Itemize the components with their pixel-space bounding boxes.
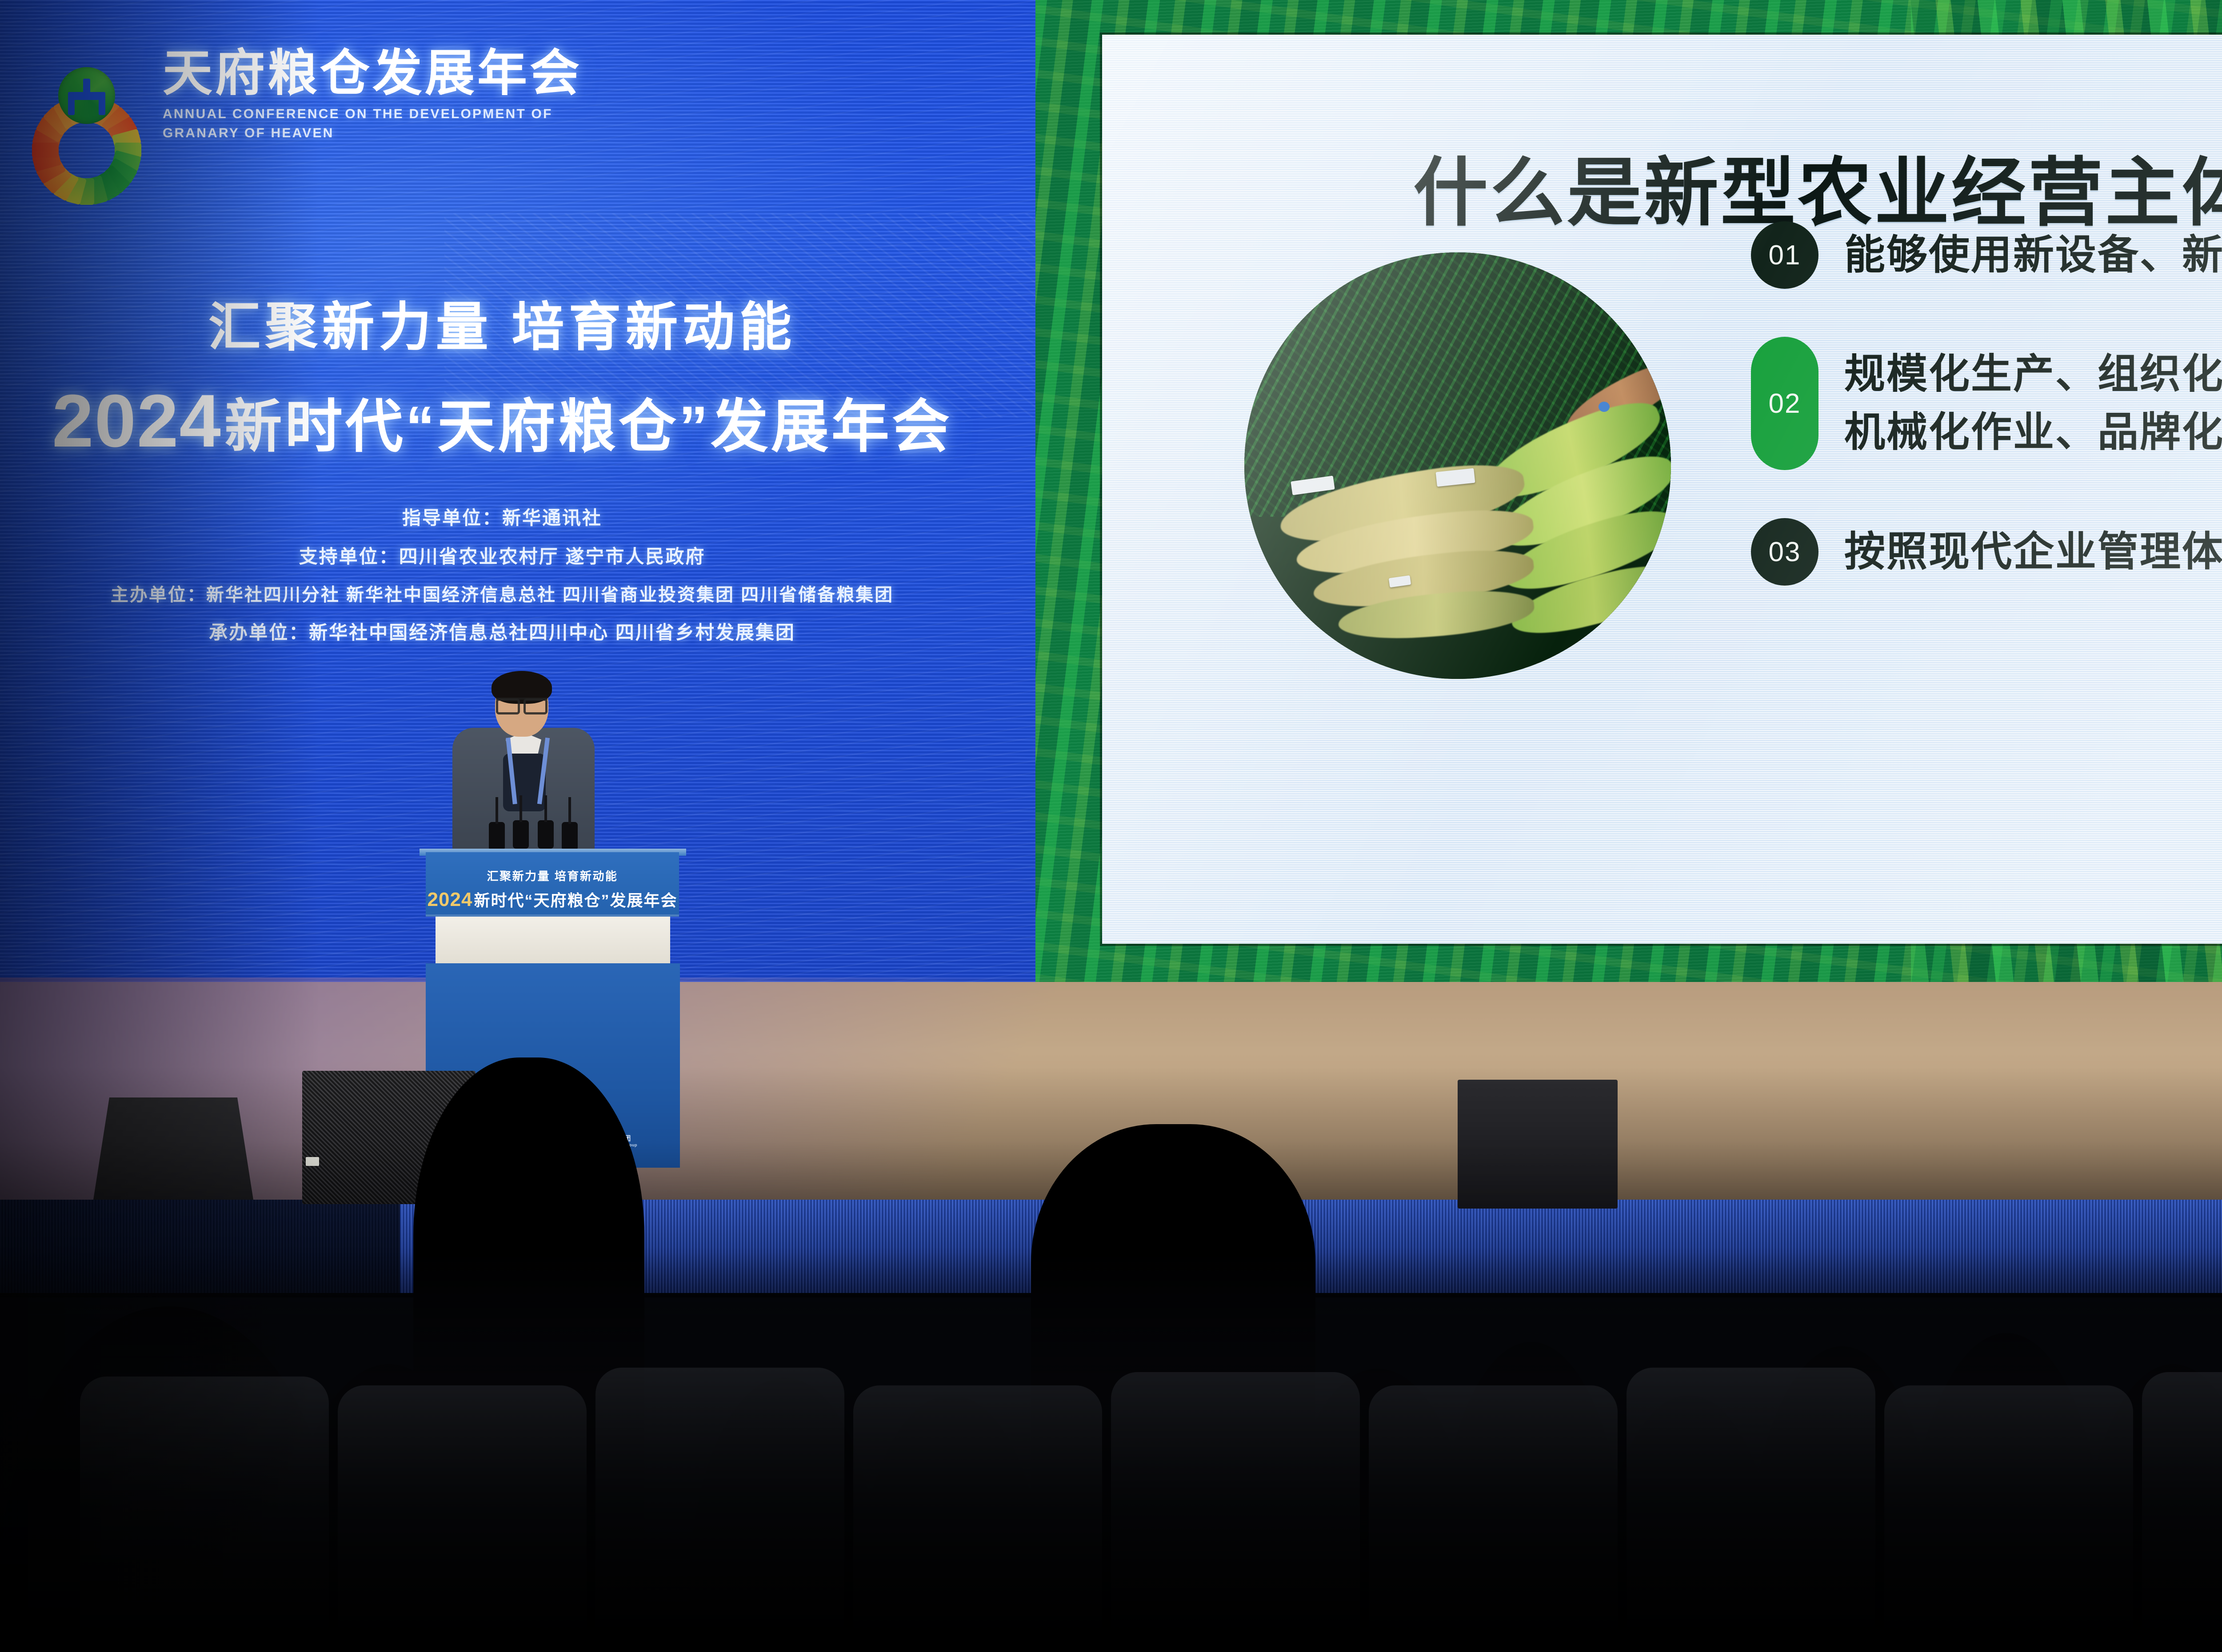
audience-area (0, 1057, 2222, 1652)
bullet-text-02: 规模化生产、组织化种植 机械化作业、品牌化提升 (1844, 345, 2222, 461)
podium-slogan: 汇聚新力量 培育新动能 (426, 867, 679, 884)
seat-7 (1627, 1368, 1875, 1652)
seat-3 (595, 1368, 844, 1652)
podium-mid-band (436, 917, 670, 963)
seat-2 (338, 1385, 587, 1652)
conference-stage-photo: 天府粮仓发展年会 ANNUAL CONFERENCE ON THE DEVELO… (0, 0, 2222, 1652)
seat-1 (80, 1377, 329, 1652)
logo-english-name: ANNUAL CONFERENCE ON THE DEVELOPMENT OF … (163, 104, 582, 143)
organizer-line-guidance: 指导单位：新华通讯社 (402, 503, 602, 530)
organizer-line-organizer: 承办单位：新华社中国经济信息总社四川中心 四川省乡村发展集团 (209, 618, 795, 645)
bullet-text-02-line2: 机械化作业、品牌化提升 (1844, 403, 2222, 462)
bullet-number-badge-03: 03 (1751, 518, 1818, 586)
logo-chinese-name: 天府粮仓发展年会 (163, 48, 582, 99)
bullet-number-badge-02: 02 (1751, 337, 1818, 470)
slide-bullet-02: 02 规模化生产、组织化种植 机械化作业、品牌化提升 (1751, 337, 2222, 470)
backdrop-slogan: 汇聚新力量 培育新动能 (0, 284, 1004, 360)
terraced-fields-photo (1244, 252, 1671, 679)
speaker-glasses-icon (496, 698, 548, 709)
slide-bullet-03: 03 按照现代企业管理体系进行管理 (1751, 518, 2222, 586)
logo-core (58, 67, 115, 124)
microphone-4-icon (562, 822, 578, 850)
seat-4 (853, 1385, 1102, 1652)
podium-front-panel: 汇聚新力量 培育新动能 2024 新时代“天府粮仓”发展年会 (426, 852, 679, 917)
microphone-3-icon (538, 820, 554, 849)
organizer-line-support: 支持单位：四川省农业农村厅 遂宁市人民政府 (299, 542, 706, 569)
backdrop-title-block: 汇聚新力量 培育新动能 2024 新时代“天府粮仓”发展年会 指导单位：新华通讯… (0, 284, 1004, 645)
podium-main-title: 新时代“天府粮仓”发展年会 (474, 888, 677, 911)
podium-year: 2024 (428, 889, 473, 911)
microphone-1-icon (489, 822, 505, 850)
podium-branding: 汇聚新力量 培育新动能 2024 新时代“天府粮仓”发展年会 (426, 852, 679, 911)
seat-6 (1369, 1385, 1618, 1652)
logo-english-line2: GRANARY OF HEAVEN (163, 126, 334, 140)
backdrop-title-row: 2024 新时代“天府粮仓”发展年会 (0, 378, 1004, 464)
bullet-text-02-line1: 规模化生产、组织化种植 (1844, 345, 2222, 403)
presentation-slide: 什么是新型农业经营主体? 01 能够使用新设备、新技术、新品种 (1102, 35, 2222, 944)
bullet-number-badge-01: 01 (1751, 221, 1818, 289)
slide-bullet-list: 01 能够使用新设备、新技术、新品种 02 规模化生产、组织化种植 机械化作业、… (1751, 221, 2222, 586)
sunburst-granary-logo-icon (31, 40, 142, 151)
seat-8 (1884, 1385, 2133, 1652)
conference-logo-lockup: 天府粮仓发展年会 ANNUAL CONFERENCE ON THE DEVELO… (31, 40, 582, 151)
podium-title-row: 2024 新时代“天府粮仓”发展年会 (426, 888, 679, 911)
backdrop-main-title: 新时代“天府粮仓”发展年会 (224, 380, 952, 463)
bullet-text-01: 能够使用新设备、新技术、新品种 (1844, 226, 2222, 284)
organizer-line-host: 主办单位：新华社四川分社 新华社中国经济信息总社 四川省商业投资集团 四川省储备… (111, 580, 894, 606)
logo-english-line1: ANNUAL CONFERENCE ON THE DEVELOPMENT OF (163, 107, 553, 121)
bullet-text-03: 按照现代企业管理体系进行管理 (1844, 523, 2222, 581)
backdrop-organizer-list: 指导单位：新华通讯社 支持单位：四川省农业农村厅 遂宁市人民政府 主办单位：新华… (0, 503, 1004, 645)
microphone-2-icon (513, 820, 529, 849)
seat-5 (1111, 1372, 1360, 1652)
backdrop-year: 2024 (52, 378, 222, 464)
seat-9 (2142, 1372, 2222, 1652)
slide-bullet-01: 01 能够使用新设备、新技术、新品种 (1751, 221, 2222, 289)
